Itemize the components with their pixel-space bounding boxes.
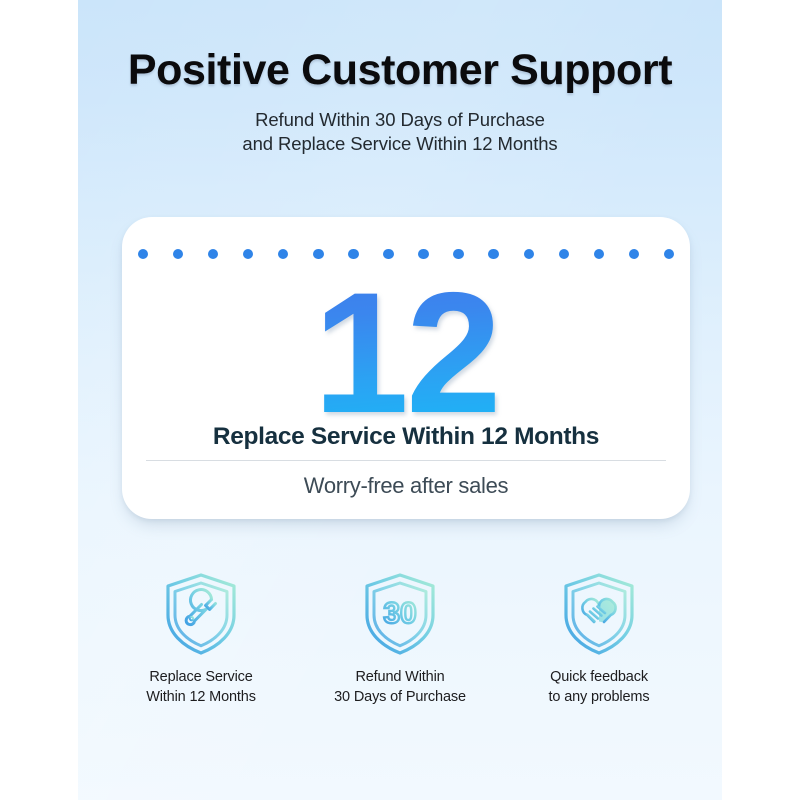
calendar-dot [664,249,675,260]
page-subtitle-line-2: and Replace Service Within 12 Months [78,132,722,157]
warranty-card: 12 Replace Service Within 12 Months Worr… [122,217,690,519]
feature-caption: Refund Within 30 Days of Purchase [307,668,493,707]
calendar-dot [559,249,570,260]
feature-item: 30 Refund Within 30 Days of Purchase [307,568,493,707]
calendar-dot [524,249,535,260]
warranty-months-number: 12 [122,267,690,439]
card-heading: Replace Service Within 12 Months [122,423,690,451]
shield-wrench-icon [108,568,294,660]
feature-caption-line-2: 30 Days of Purchase [307,688,493,708]
calendar-dot [629,249,640,260]
card-divider [146,460,666,461]
feature-caption-line-2: to any problems [506,688,692,708]
feature-caption: Quick feedback to any problems [506,668,692,707]
calendar-dot [173,249,184,260]
feature-caption-line-1: Quick feedback [506,668,692,688]
background-panel: Positive Customer Support Refund Within … [78,0,722,800]
calendar-dot [138,249,149,260]
feature-caption-line-1: Replace Service [108,668,294,688]
shield-badge-number: 30 [383,597,416,630]
feature-item: Replace Service Within 12 Months [108,568,294,707]
shield-handshake-heart-icon [506,568,692,660]
page-title: Positive Customer Support [78,48,722,94]
page-subtitle: Refund Within 30 Days of Purchase and Re… [78,108,722,157]
calendar-dot [243,249,254,260]
header: Positive Customer Support Refund Within … [78,48,722,157]
page-subtitle-line-1: Refund Within 30 Days of Purchase [78,108,722,133]
feature-list: Replace Service Within 12 Months [108,568,692,707]
card-subtext: Worry-free after sales [122,473,690,499]
feature-item: Quick feedback to any problems [506,568,692,707]
shield-30-days-icon: 30 [307,568,493,660]
infographic-root: Positive Customer Support Refund Within … [0,0,800,800]
feature-caption: Replace Service Within 12 Months [108,668,294,707]
calendar-dot [278,249,289,260]
feature-caption-line-1: Refund Within [307,668,493,688]
calendar-dot [208,249,219,260]
feature-caption-line-2: Within 12 Months [108,688,294,708]
calendar-dot [594,249,605,260]
